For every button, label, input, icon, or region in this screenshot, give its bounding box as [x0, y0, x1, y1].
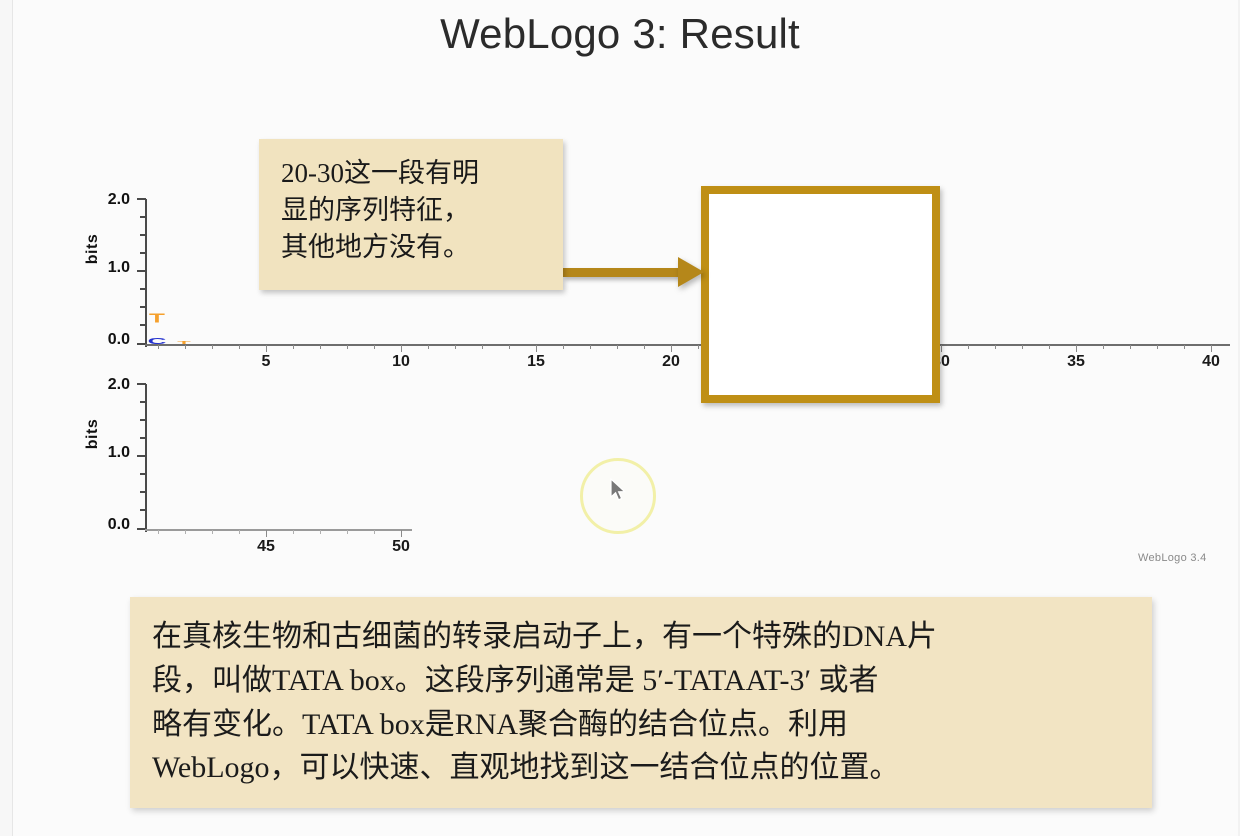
panel1-xtick-label-10: 10 [392, 353, 410, 371]
arrow-head-icon [678, 257, 704, 287]
panel1-x-axis [145, 344, 1230, 346]
callout-arrow [563, 266, 709, 278]
panel1-xtick-minor [1022, 345, 1023, 349]
panel2-ytickmark [140, 491, 146, 493]
panel1-ytickmark [137, 270, 146, 272]
caption-box: 在真核生物和古细菌的转录启动子上，有一个特殊的DNA片 段，叫做TATA box… [130, 597, 1152, 808]
tata-box-highlight: bits 2.0 1.0 0.0 [701, 186, 940, 403]
panel1-xtick-minor [482, 345, 483, 349]
panel1-xtick-label-5: 5 [262, 353, 271, 371]
panel2-ytick-0: 0.0 [90, 516, 130, 534]
page-title: WebLogo 3: Result [0, 10, 1240, 58]
panel1-ytick-1: 1.0 [90, 259, 130, 277]
panel1-ytickmark [140, 288, 146, 290]
panel1-xtick-minor [995, 345, 996, 349]
panel1-xtick [671, 345, 672, 352]
panel2-xtick-minor [185, 530, 186, 534]
panel2-xtick-label-45: 45 [257, 538, 275, 556]
slide-left-margin [0, 0, 12, 836]
panel1-xtick-minor [1049, 345, 1050, 349]
panel2-ytick-2: 2.0 [90, 376, 130, 394]
panel2-xtick [266, 530, 267, 537]
panel1-xtick-minor [185, 345, 186, 349]
panel1-xtick-minor [455, 345, 456, 349]
panel2-ytickmark [140, 401, 146, 403]
panel2-xtick-minor [212, 530, 213, 534]
panel1-xtick-minor [428, 345, 429, 349]
panel1-xtick-minor [968, 345, 969, 349]
panel1-xtick-minor [563, 345, 564, 349]
slide-left-rule [12, 0, 13, 836]
panel2-ytickmark [140, 437, 146, 439]
logo-stack-2: T [172, 327, 196, 344]
panel1-xtick-minor [212, 345, 213, 349]
panel1-ytickmark [140, 234, 146, 236]
caption-line-2: 段，叫做TATA box。这段序列通常是 5′-TATAAT-3′ 或者 [152, 659, 1126, 703]
panel1-xtick-minor [1103, 345, 1104, 349]
panel2-xtick-minor [239, 530, 240, 534]
panel1-xtick-minor [1130, 345, 1131, 349]
callout-line-2: 显的序列特征， [281, 192, 543, 229]
panel2-xtick [401, 530, 402, 537]
panel1-ytickmark [140, 252, 146, 254]
mouse-cursor-icon [610, 478, 628, 509]
panel1-xtick-minor [590, 345, 591, 349]
panel2-xtick-minor [158, 530, 159, 534]
panel2-xtick-minor [374, 530, 375, 534]
panel1-xtick [1211, 345, 1212, 352]
panel1-xtick-label-35: 35 [1067, 353, 1085, 371]
panel1-xtick-minor [293, 345, 294, 349]
panel1-xtick-minor [617, 345, 618, 349]
panel1-xtick-minor [347, 345, 348, 349]
panel2-ytick-1: 1.0 [90, 444, 130, 462]
panel1-xtick-minor [374, 345, 375, 349]
weblogo-version-credit: WebLogo 3.4 [1138, 552, 1207, 564]
panel1-xtick-minor [509, 345, 510, 349]
panel2-ytickmark [140, 509, 146, 511]
caption-line-4: WebLogo，可以快速、直观地找到这一结合位点的位置。 [152, 746, 1126, 790]
logo-letter-C: C [148, 338, 167, 344]
panel1-xtick [941, 345, 942, 352]
panel1-ytickmark [140, 216, 146, 218]
panel1-xtick-label-40: 40 [1202, 353, 1220, 371]
panel1-xtick-label-15: 15 [527, 353, 545, 371]
panel2-xtick-minor [347, 530, 348, 534]
arrow-shaft [563, 268, 683, 277]
panel2-ytickmark [137, 383, 146, 385]
logo-letter-T: T [177, 340, 190, 344]
panel1-xtick-minor [698, 345, 699, 349]
panel1-ytick-2: 2.0 [90, 191, 130, 209]
slide-canvas: WebLogo 3: Result bits 2.0 1.0 0.0 [0, 0, 1240, 836]
panel1-xtick [266, 345, 267, 352]
panel1-xtick [1076, 345, 1077, 352]
callout-line-1: 20-30这一段有明 [281, 155, 543, 192]
callout-line-3: 其他地方没有。 [281, 229, 543, 266]
panel1-xtick [401, 345, 402, 352]
panel2-ytickmark [140, 473, 146, 475]
callout-note: 20-30这一段有明 显的序列特征， 其他地方没有。 [259, 139, 563, 290]
panel1-xtick [536, 345, 537, 352]
panel1-xtick-minor [644, 345, 645, 349]
panel2-xtick-minor [320, 530, 321, 534]
highlight-box-inner: bits 2.0 1.0 0.0 [701, 186, 940, 380]
logo-letter-T: T [149, 314, 165, 324]
panel1-ytickmark [137, 198, 146, 200]
caption-line-3: 略有变化。TATA box是RNA聚合酶的结合位点。利用 [152, 703, 1126, 747]
panel2-xtick-minor [293, 530, 294, 534]
caption-line-1: 在真核生物和古细菌的转录启动子上，有一个特殊的DNA片 [152, 615, 1126, 659]
panel1-ytick-0: 0.0 [90, 331, 130, 349]
panel1-xtick-label-20: 20 [662, 353, 680, 371]
panel1-xtick-minor [239, 345, 240, 349]
panel1-xtick-minor [1184, 345, 1185, 349]
logo-stack-1: T C [145, 303, 169, 344]
panel1-xtick-minor [320, 345, 321, 349]
panel2-ytickmark [137, 455, 146, 457]
panel1-xtick-minor [1157, 345, 1158, 349]
panel2-ytickmark [140, 419, 146, 421]
panel2-xtick-label-50: 50 [392, 538, 410, 556]
